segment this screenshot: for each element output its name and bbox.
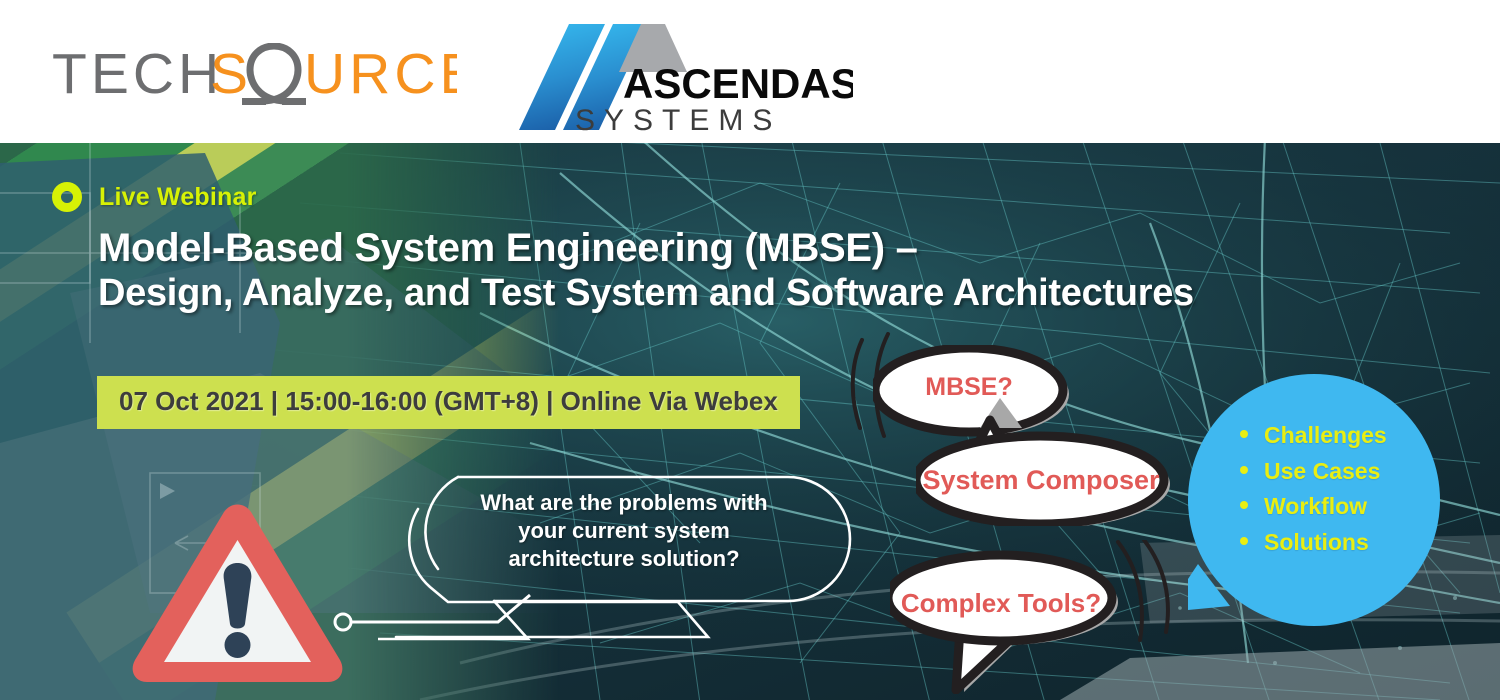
date-time-bar: 07 Oct 2021 | 15:00-16:00 (GMT+8) | Onli…: [97, 376, 800, 429]
live-webinar-badge: Live Webinar: [52, 182, 257, 212]
exclamation-dot-icon: [225, 632, 251, 658]
comic-bubble-complex-tools: Complex Tools?: [890, 558, 1112, 650]
topic-item: Workflow: [1238, 489, 1387, 525]
question-bubble-text: What are the problems with your current …: [448, 489, 800, 573]
techsource-tech-text: TECH: [52, 43, 223, 106]
topics-circle-bubble: Challenges Use Cases Workflow Solutions: [1188, 374, 1440, 626]
ascendas-systems-text: SYSTEMS: [575, 104, 781, 136]
topic-item: Challenges: [1238, 418, 1387, 454]
comic-bubble-system-composer-text: System Composer: [916, 465, 1166, 496]
ascendas-logo-mark: ASCENDAS SYSTEMS: [513, 18, 853, 136]
title-line-2: Design, Analyze, and Test System and Sof…: [98, 271, 1194, 317]
omega-icon: [250, 46, 298, 101]
warning-triangle-icon: [130, 500, 345, 685]
topic-item: Solutions: [1238, 525, 1387, 561]
page-title: Model-Based System Engineering (MBSE) – …: [98, 226, 1194, 316]
bubble-connector-line: [330, 590, 590, 660]
question-line-2: your current system: [448, 517, 800, 545]
comic-bubble-system-composer: System Composer: [916, 434, 1166, 544]
question-speech-bubble: What are the problems with your current …: [378, 477, 853, 601]
topic-item: Use Cases: [1238, 454, 1387, 490]
comic-bubble-complex-tools-text: Complex Tools?: [890, 588, 1112, 619]
question-line-1: What are the problems with: [448, 489, 800, 517]
question-line-3: architecture solution?: [448, 545, 800, 573]
ascendas-wordmark: ASCENDAS: [623, 60, 853, 107]
techsource-logo: TECH S URCE: [52, 47, 457, 109]
live-webinar-label: Live Webinar: [99, 183, 257, 212]
title-line-1: Model-Based System Engineering (MBSE) –: [98, 226, 1194, 271]
techsource-logo-mark: TECH S URCE: [52, 43, 457, 113]
live-ring-icon: [52, 182, 82, 212]
topics-list: Challenges Use Cases Workflow Solutions: [1238, 418, 1387, 561]
date-time-text: 07 Oct 2021 | 15:00-16:00 (GMT+8) | Onli…: [119, 386, 778, 416]
webinar-banner: TECH S URCE: [0, 0, 1500, 700]
techsource-urce-text: URCE: [304, 43, 457, 106]
ascendas-systems-logo: ASCENDAS SYSTEMS: [513, 18, 853, 136]
logo-header: TECH S URCE: [0, 0, 1500, 143]
techsource-s-text: S: [210, 43, 252, 106]
